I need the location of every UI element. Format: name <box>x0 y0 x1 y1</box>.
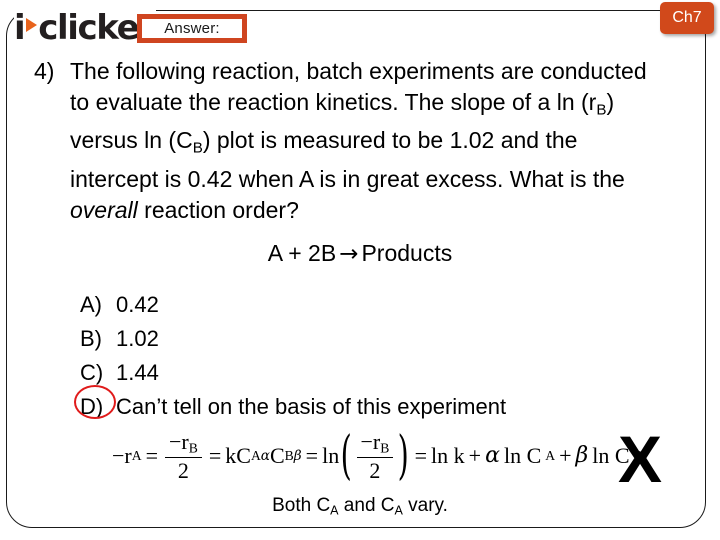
question-emphasis-overall: overall <box>70 197 138 223</box>
formula-frac2-num-base: −r <box>361 429 381 454</box>
question-line-3a: slope of a ln (r <box>451 89 597 115</box>
slide-canvas: i clicker Answer: Ch7 4) The following r… <box>0 0 720 540</box>
choice-text: Can’t tell on the basis of this experime… <box>116 390 506 424</box>
formula-paren-open: ( <box>341 435 352 478</box>
formula-plus-1: + <box>465 443 485 469</box>
note-sub-a: A <box>330 504 338 518</box>
formula-alpha-exponent: α <box>261 448 270 464</box>
formula-frac2-denominator: 2 <box>365 458 384 482</box>
formula-cb-sub: B <box>285 448 294 464</box>
answer-label: Answer: <box>164 20 220 37</box>
note-text-a: Both C <box>272 495 330 516</box>
question-line-1: The following reaction, batch experiment… <box>70 58 534 84</box>
answer-choice-d[interactable]: D) Can’t tell on the basis of this exper… <box>80 390 506 424</box>
reaction-equation: A + 2B→Products <box>0 240 720 267</box>
note-sub-b: A <box>395 504 403 518</box>
formula-frac1-num-sub: B <box>189 440 198 455</box>
reaction-products: Products <box>361 240 452 266</box>
formula-paren-close: ) <box>398 435 409 478</box>
question-line-5a: excess. What is the <box>425 166 624 192</box>
question-sub-rb: B <box>596 101 606 118</box>
formula-frac2-numerator: −rB <box>357 430 394 458</box>
choice-letter: A) <box>80 288 116 322</box>
choice-letter: B) <box>80 322 116 356</box>
note-text-c: vary. <box>403 495 448 516</box>
formula-ln-ca: ln C <box>500 443 545 469</box>
chapter-badge: Ch7 <box>660 2 714 34</box>
formula-frac1-num-base: −r <box>169 429 189 454</box>
question-line-5b: reaction order? <box>138 197 299 223</box>
chapter-badge-label: Ch7 <box>661 9 712 27</box>
note-text-b: and C <box>339 495 395 516</box>
selected-answer-circle-annotation <box>74 385 116 419</box>
formula-beta-exponent: β <box>294 448 302 464</box>
reaction-arrow-icon: → <box>336 241 361 267</box>
answer-choice-c[interactable]: C) 1.44 <box>80 356 506 390</box>
answer-field[interactable]: Answer: <box>137 14 247 43</box>
answer-choice-list: A) 0.42 B) 1.02 C) 1.44 D) Can’t tell on… <box>80 288 506 424</box>
logo-text-left: i <box>14 11 24 45</box>
question-line-3c: ) plot is measured to <box>203 127 411 153</box>
iclicker-logo: i clicker <box>14 8 156 48</box>
formula-equals-1: = <box>142 443 162 469</box>
play-triangle-icon <box>26 18 37 32</box>
formula-alpha-coefficient: α <box>485 443 500 468</box>
formula-ca-sub: A <box>251 448 261 464</box>
formula-plus-2: + <box>555 443 575 469</box>
formula-equals-2: = <box>205 443 225 469</box>
answer-choice-b[interactable]: B) 1.02 <box>80 322 506 356</box>
logo-wordmark: i clicker <box>14 11 154 45</box>
question-sub-cb: B <box>193 140 203 157</box>
formula-ra-base: −r <box>112 443 132 469</box>
question-block: 4) The following reaction, batch experim… <box>34 56 674 225</box>
formula-ra-sub: A <box>132 448 142 464</box>
formula-frac2-num-sub: B <box>380 440 389 455</box>
formula-beta-coefficient: β <box>576 443 589 468</box>
reaction-reactants: A + 2B <box>268 240 336 266</box>
formula-ln-1: ln <box>322 443 339 469</box>
formula-rhs-ln-k: ln k <box>431 443 465 469</box>
explanation-note: Both CA and CA vary. <box>0 495 720 518</box>
formula-equals-4: = <box>411 443 431 469</box>
rate-law-formula: −rA = −rB 2 = kCAαCBβ = ln( −rB 2 ) = ln… <box>112 430 643 482</box>
formula-fraction-2: −rB 2 <box>357 430 394 482</box>
question-number: 4) <box>34 56 70 87</box>
formula-equals-3: = <box>302 443 322 469</box>
choice-text: 0.42 <box>116 288 159 322</box>
choice-text: 1.44 <box>116 356 159 390</box>
question-text: The following reaction, batch experiment… <box>70 56 666 225</box>
cross-out-x-icon: X <box>618 426 662 492</box>
formula-rate-c: C <box>270 443 285 469</box>
formula-fraction-1: −rB 2 <box>165 430 202 482</box>
choice-text: 1.02 <box>116 322 159 356</box>
formula-frac1-numerator: −rB <box>165 430 202 458</box>
answer-choice-a[interactable]: A) 0.42 <box>80 288 506 322</box>
formula-rate-k: kC <box>225 443 251 469</box>
formula-frac1-denominator: 2 <box>174 458 193 482</box>
formula-ln-ca-sub: A <box>545 448 555 464</box>
